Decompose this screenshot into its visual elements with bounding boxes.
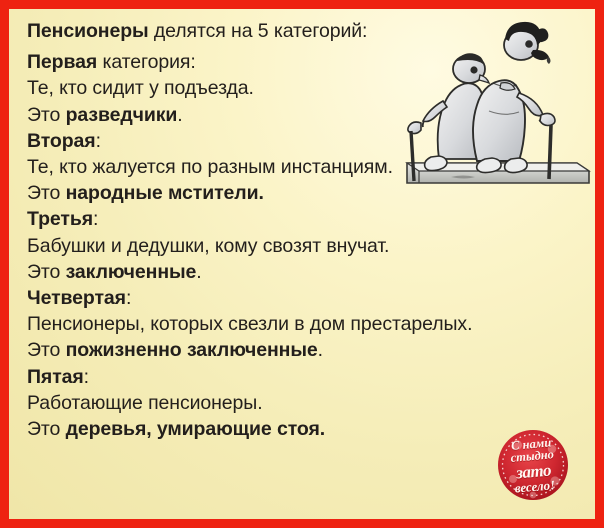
category-5-description: Работающие пенсионеры.: [27, 390, 589, 416]
category-1-verdict-suffix: .: [177, 104, 182, 126]
category-1-ordinal-bold: Первая: [27, 51, 97, 73]
category-4-ordinal-bold: Четвертая: [27, 287, 126, 309]
category-1-ordinal: Первая категория:: [27, 49, 589, 75]
category-2-ordinal: Вторая:: [27, 128, 589, 154]
category-3-ordinal: Третья:: [27, 206, 589, 232]
category-2-verdict: Это народные мстители.: [27, 180, 589, 206]
watermark-stamp: С нами стыдно зато весело!: [497, 429, 569, 501]
category-3-verdict-prefix: Это: [27, 261, 66, 283]
category-4-ordinal: Четвертая:: [27, 285, 589, 311]
stamp-line-4: весело!: [514, 478, 556, 494]
category-3-verdict-suffix: .: [196, 261, 201, 283]
category-4-verdict-suffix: .: [318, 339, 323, 361]
category-1-ordinal-rest: категория:: [97, 51, 196, 73]
joke-text-block: Пенсионеры делятся на 5 категорий: Перва…: [27, 18, 589, 442]
category-4-verdict-prefix: Это: [27, 339, 66, 361]
heading-bold: Пенсионеры: [27, 20, 149, 42]
category-4-description: Пенсионеры, которых свезли в дом престар…: [27, 311, 589, 337]
category-5-verdict-prefix: Это: [27, 418, 66, 440]
category-1-verdict-bold: разведчики: [66, 104, 178, 126]
heading-rest: делятся на 5 категорий:: [149, 20, 368, 42]
category-1-description: Те, кто сидит у подъезда.: [27, 75, 589, 101]
category-1-verdict: Это разведчики.: [27, 102, 589, 128]
category-2-verdict-prefix: Это: [27, 182, 66, 204]
category-5-ordinal-bold: Пятая: [27, 366, 84, 388]
category-3-verdict-bold: заключенные: [66, 261, 197, 283]
category-3-ordinal-rest: :: [93, 208, 98, 230]
heading-line: Пенсионеры делятся на 5 категорий:: [27, 18, 589, 44]
category-3-ordinal-bold: Третья: [27, 208, 93, 230]
category-5-ordinal-rest: :: [84, 366, 89, 388]
joke-card: Пенсионеры делятся на 5 категорий: Перва…: [0, 0, 604, 528]
category-5-ordinal: Пятая:: [27, 364, 589, 390]
category-2-ordinal-bold: Вторая: [27, 130, 96, 152]
category-5-verdict-bold: деревья, умирающие стоя.: [66, 418, 325, 440]
category-2-ordinal-rest: :: [96, 130, 101, 152]
category-3-description: Бабушки и дедушки, кому свозят внучат.: [27, 233, 589, 259]
category-2-verdict-bold: народные мстители.: [66, 182, 264, 204]
category-2-description: Те, кто жалуется по разным инстанциям.: [27, 154, 589, 180]
category-3-verdict: Это заключенные.: [27, 259, 589, 285]
stamp-text: С нами стыдно зато весело!: [494, 426, 572, 504]
category-1-verdict-prefix: Это: [27, 104, 66, 126]
category-4-ordinal-rest: :: [126, 287, 131, 309]
category-4-verdict: Это пожизненно заключенные.: [27, 337, 589, 363]
category-4-verdict-bold: пожизненно заключенные: [66, 339, 318, 361]
